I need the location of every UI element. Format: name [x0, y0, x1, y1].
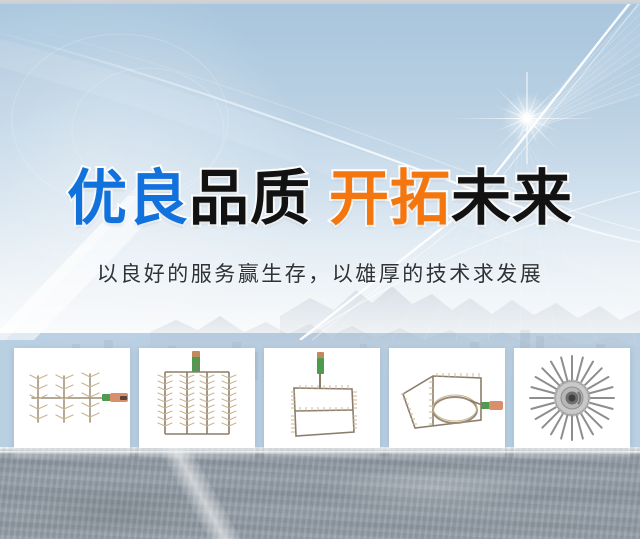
promo-banner: 优良品质开拓未来 以良好的服务赢生存，以雄厚的技术求发展 [0, 0, 640, 539]
top-edge-strip [0, 0, 640, 4]
ground-floor [0, 447, 640, 539]
headline-part-youliang: 优良 [67, 164, 189, 234]
headline-part-kaituo: 开拓 [329, 164, 451, 234]
radial-disc-rack-icon [514, 348, 630, 448]
product-card-1[interactable] [14, 348, 130, 448]
comb-rack-icon [14, 348, 130, 448]
ring-frame-rack-icon [389, 348, 505, 448]
headline-part-pinzhi: 品质 [189, 164, 311, 234]
product-card-5[interactable] [514, 348, 630, 448]
frame-rack-icon [264, 348, 380, 448]
product-card-2[interactable] [139, 348, 255, 448]
product-card-4[interactable] [389, 348, 505, 448]
subtitle: 以良好的服务赢生存，以雄厚的技术求发展 [0, 258, 640, 288]
headline-part-weilai: 未来 [451, 164, 573, 234]
headline: 优良品质开拓未来 [0, 163, 640, 235]
dense-tooth-rack-icon [139, 348, 255, 448]
product-card-row [14, 348, 628, 448]
product-card-3[interactable] [264, 348, 380, 448]
